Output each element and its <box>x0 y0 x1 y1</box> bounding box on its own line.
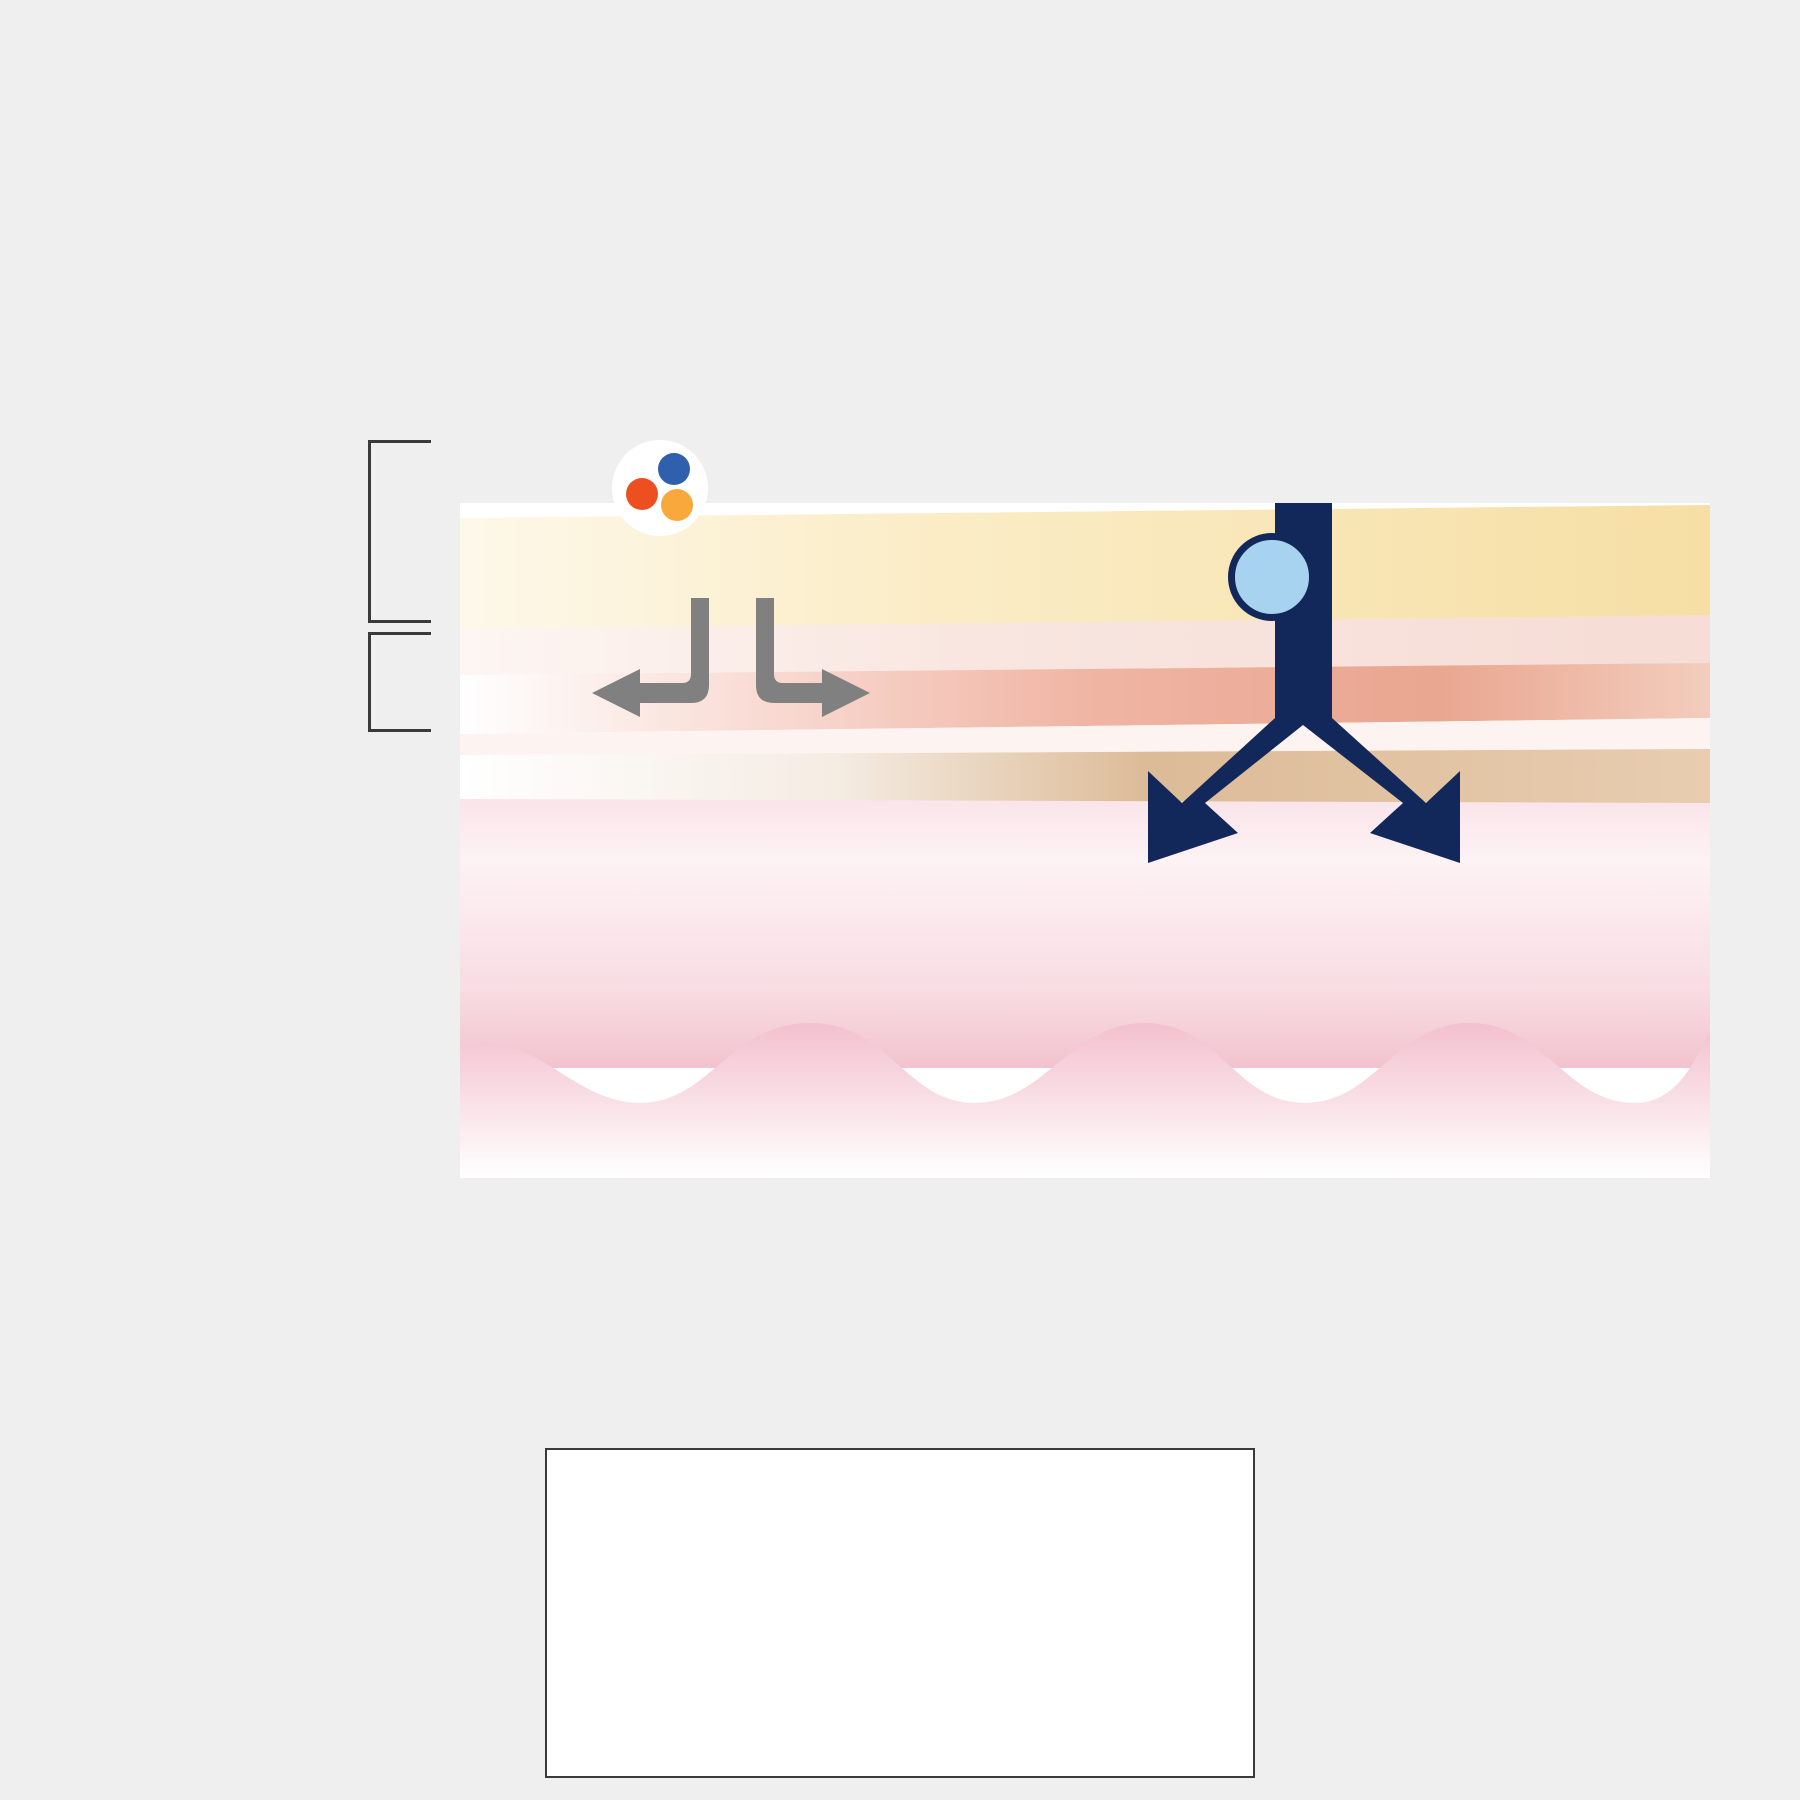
legend-dot-icon <box>577 1705 611 1739</box>
bracket-bottom-arm <box>368 620 431 623</box>
ectoin-molecule-dot <box>658 453 690 485</box>
infographic-canvas <box>0 0 1800 1800</box>
legend-dot-icon <box>577 1630 611 1664</box>
bracket-top-arm <box>368 440 431 443</box>
bracket-top-arm <box>368 632 431 635</box>
liposome-xosm-vesicle <box>529 357 791 619</box>
legend-item-astaxanthin-rich-micro-algae <box>577 1705 627 1739</box>
bracket-spine <box>368 440 371 623</box>
legend-item-tetrahexyldecyl-ascorbate <box>577 1630 627 1664</box>
dermis-layer <box>460 748 1710 1178</box>
ascorbate-molecule-dot <box>661 489 693 521</box>
bracket-epidermis <box>368 632 431 732</box>
legend-dot-icon <box>577 1555 611 1589</box>
astaxanthin-molecule-dot <box>626 478 658 510</box>
label-xosm-technology <box>70 477 350 516</box>
legend-box <box>545 1448 1255 1778</box>
bracket-xosm-technology <box>368 440 431 623</box>
bracket-spine <box>368 632 371 732</box>
retinol-molecule <box>1228 533 1316 621</box>
legend-item-ectoin <box>577 1555 627 1589</box>
bracket-bottom-arm <box>368 729 431 732</box>
